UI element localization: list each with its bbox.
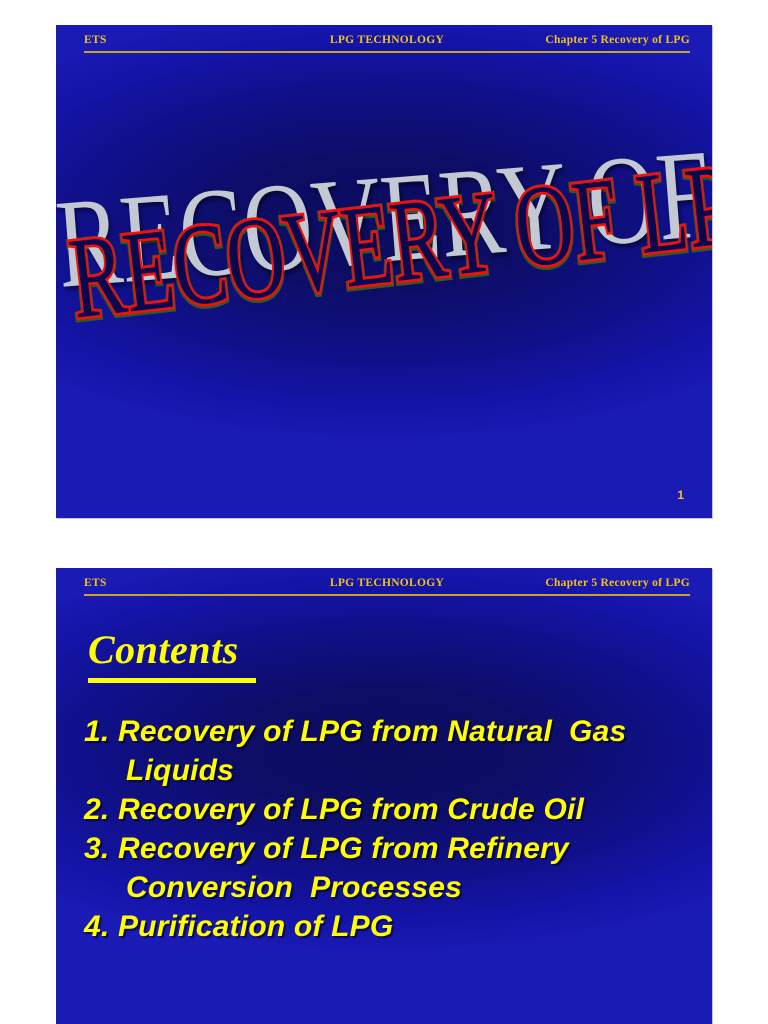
title-wordart: RECOVERY OF LPG RECOVERY OF LPG RECOVERY… [56,165,712,375]
header-divider-rule [84,594,690,596]
slide-2-header-row: ETS LPG TECHNOLOGY Chapter 5 Recovery of… [84,573,690,593]
contents-heading-underline [88,678,256,683]
header-right-chapter: Chapter 5 Recovery of LPG [545,30,690,50]
document-page: ETS LPG TECHNOLOGY Chapter 5 Recovery of… [0,0,768,1024]
slide-1-header-row: ETS LPG TECHNOLOGY Chapter 5 Recovery of… [84,30,690,50]
header-right-chapter: Chapter 5 Recovery of LPG [545,573,690,593]
slide-2-header: ETS LPG TECHNOLOGY Chapter 5 Recovery of… [56,568,712,602]
contents-list: 1. Recovery of LPG from Natural Gas Liqu… [84,712,694,946]
slide-number: 1 [677,488,684,502]
contents-list-item[interactable]: 3. Recovery of LPG from Refinery Convers… [84,829,694,907]
slide-1-header: ETS LPG TECHNOLOGY Chapter 5 Recovery of… [56,25,712,59]
contents-list-item[interactable]: 1. Recovery of LPG from Natural Gas Liqu… [84,712,694,790]
contents-list-item[interactable]: 2. Recovery of LPG from Crude Oil [84,790,694,829]
header-divider-rule [84,51,690,53]
contents-heading: Contents [88,630,239,670]
slide-1[interactable]: ETS LPG TECHNOLOGY Chapter 5 Recovery of… [56,25,712,518]
slide-2[interactable]: ETS LPG TECHNOLOGY Chapter 5 Recovery of… [56,568,712,1024]
contents-list-item[interactable]: 4. Purification of LPG [84,907,694,946]
